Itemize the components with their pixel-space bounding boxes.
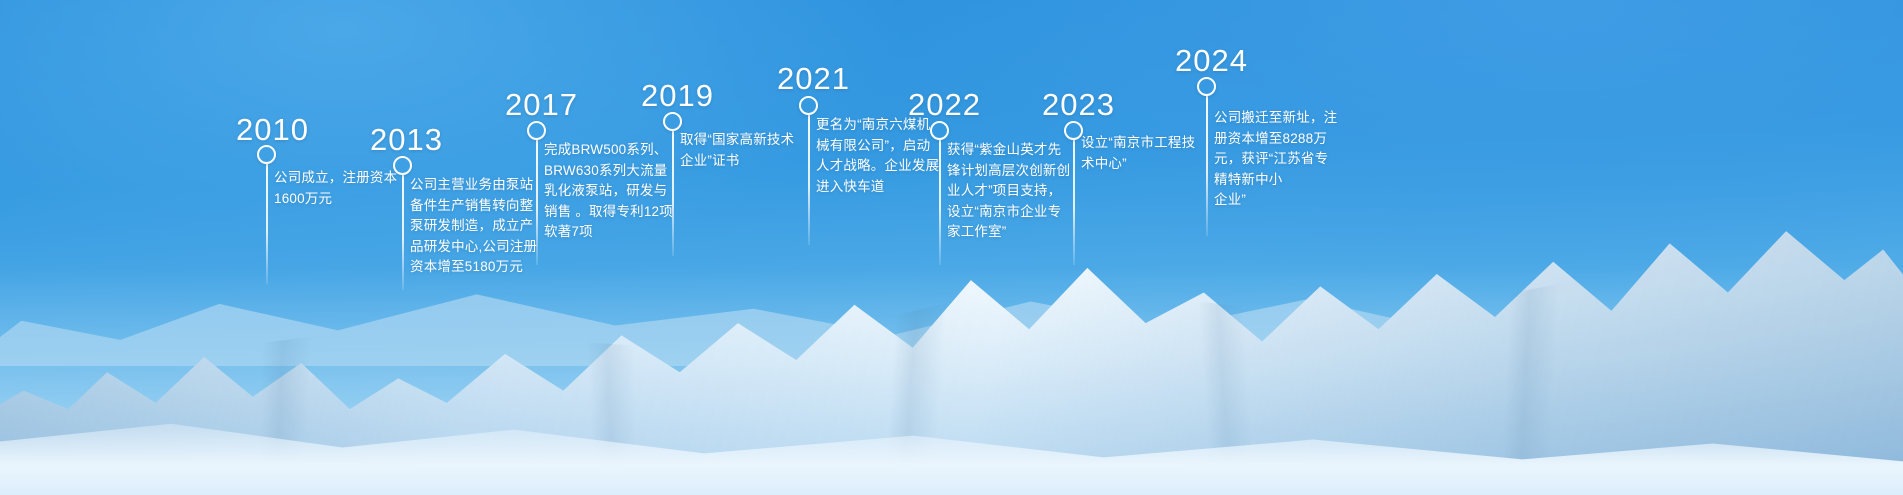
milestone-year-label: 2013 [370,124,443,155]
milestone-year-label: 2022 [908,89,981,120]
milestone-stem-line [808,115,810,245]
milestone-description: 设立“南京市工程技 术中心” [1081,133,1231,174]
milestone-year-label: 2017 [505,89,578,120]
milestone-marker-dot[interactable] [527,121,546,140]
milestone-stem-line [266,164,268,284]
milestone-year-label: 2019 [641,80,714,111]
milestone-marker-dot[interactable] [1197,77,1216,96]
milestone-stem-line [939,140,941,265]
milestone-year-label: 2021 [777,63,850,94]
milestone-marker-dot[interactable] [930,121,949,140]
milestone-year-label: 2023 [1042,89,1115,120]
milestone-stem-line [536,140,538,265]
company-history-timeline: 2010公司成立，注册资本 1600万元2013公司主营业务由泵站 备件生产销售… [0,0,1903,495]
milestone-description: 公司搬迁至新址，注 册资本增至8288万 元，获评“江苏省专 精特新中小 企业” [1214,108,1374,211]
milestone-year-label: 2010 [236,114,309,145]
milestone-marker-dot[interactable] [663,112,682,131]
milestone-stem-line [1073,140,1075,265]
milestone-stem-line [672,131,674,256]
milestone-year-label: 2024 [1175,45,1248,76]
milestone-marker-dot[interactable] [799,96,818,115]
milestone-marker-dot[interactable] [393,156,412,175]
milestone-stem-line [1206,96,1208,236]
milestone-stem-line [402,175,404,290]
milestone-marker-dot[interactable] [257,145,276,164]
